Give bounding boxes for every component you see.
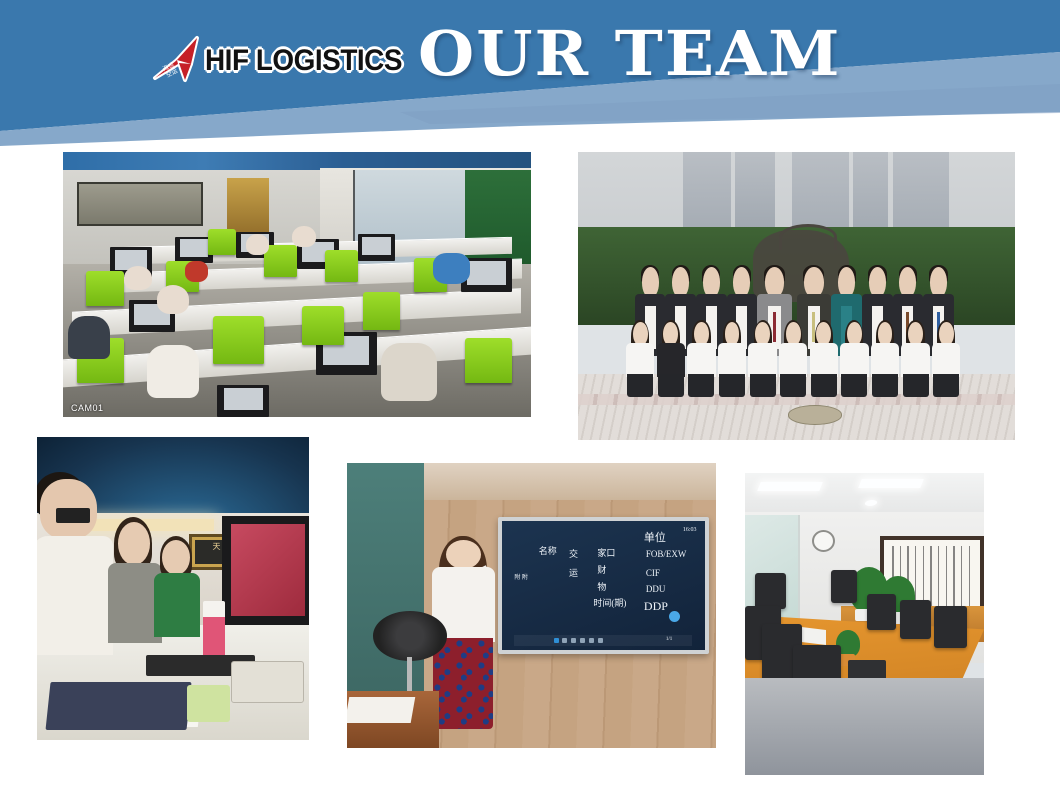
pavement-manhole bbox=[788, 405, 842, 424]
group-member-front-row bbox=[748, 322, 776, 397]
office-chair bbox=[208, 229, 236, 256]
office-employee bbox=[157, 285, 190, 314]
desk-telephone bbox=[231, 661, 304, 702]
conference-chair bbox=[900, 600, 931, 639]
office-chair bbox=[264, 245, 297, 277]
group-member-front-row bbox=[871, 322, 899, 397]
whiteboard-heading: 单位 bbox=[644, 533, 666, 544]
office-employee bbox=[124, 266, 152, 290]
office-chair bbox=[86, 271, 123, 305]
office-chair bbox=[465, 338, 512, 383]
brand-name: HIF LOGISTICS bbox=[205, 30, 402, 92]
whiteboard-note: 家口 bbox=[597, 548, 615, 559]
page-header: 海运 空运 HIF LOGISTICS OUR TEAM bbox=[0, 0, 1060, 152]
whiteboard-toolbar[interactable] bbox=[514, 635, 692, 647]
office-employee bbox=[147, 345, 198, 398]
photo-company-group[interactable] bbox=[578, 152, 1015, 440]
conference-chair bbox=[934, 606, 967, 648]
office-monitor bbox=[358, 234, 395, 261]
office-employee bbox=[246, 234, 269, 255]
photo-training-session[interactable]: 16:03 单位 FOB/EXW CIF DDU DDP 名称 交 家口 财 物… bbox=[347, 463, 716, 748]
office-chair bbox=[302, 306, 344, 346]
whiteboard-note: 物 bbox=[597, 582, 606, 593]
office-employee bbox=[292, 226, 315, 247]
desk-snack-bag bbox=[187, 685, 231, 721]
office-chair bbox=[363, 292, 400, 329]
whiteboard-note: 名称 bbox=[539, 546, 557, 557]
conference-chair bbox=[867, 594, 896, 630]
ceiling-light bbox=[858, 479, 924, 488]
camera-watermark: CAM01 bbox=[71, 403, 104, 413]
ceiling-light bbox=[758, 482, 824, 491]
whiteboard-term: DDU bbox=[646, 584, 666, 595]
desk-employee-foreground bbox=[37, 479, 113, 655]
training-wall-top bbox=[424, 463, 716, 500]
office-monitor bbox=[217, 385, 268, 417]
conference-floor bbox=[745, 678, 984, 775]
office-chair bbox=[213, 316, 264, 364]
company-logo[interactable]: 海运 空运 HIF LOGISTICS bbox=[147, 30, 417, 92]
office-wall-painting bbox=[77, 182, 203, 226]
office-employee bbox=[185, 261, 208, 282]
conference-chair bbox=[831, 570, 857, 603]
training-documents bbox=[347, 697, 416, 723]
office-employee bbox=[433, 253, 470, 285]
hif-arrow-logo-icon: 海运 空运 bbox=[147, 30, 209, 92]
whiteboard-term: CIF bbox=[646, 568, 660, 579]
group-member-front-row bbox=[626, 322, 654, 397]
group-member-front-row bbox=[657, 322, 685, 397]
group-member-front-row bbox=[901, 322, 929, 397]
group-member-front-row bbox=[718, 322, 746, 397]
whiteboard-term: FOB/EXW bbox=[646, 549, 687, 560]
desk-monitor bbox=[222, 516, 309, 625]
photo-open-plan-office[interactable]: CAM01 bbox=[63, 152, 531, 417]
whiteboard-note: 时间(期) bbox=[593, 598, 626, 609]
bull-statue-horn bbox=[779, 224, 837, 250]
whiteboard-clock: 16:03 bbox=[683, 525, 697, 536]
whiteboard-note: 财 bbox=[597, 565, 606, 576]
conference-chair bbox=[755, 573, 786, 609]
photo-staff-desks[interactable]: 天道酬勤 bbox=[37, 437, 309, 740]
interactive-whiteboard[interactable]: 16:03 单位 FOB/EXW CIF DDU DDP 名称 交 家口 财 物… bbox=[498, 517, 708, 654]
whiteboard-note: 运 bbox=[569, 568, 578, 579]
group-member-front-row bbox=[687, 322, 715, 397]
whiteboard-term: DDP bbox=[644, 601, 668, 612]
whiteboard-note: 附 附 bbox=[514, 573, 528, 584]
group-member-front-row bbox=[779, 322, 807, 397]
office-employee bbox=[68, 316, 110, 358]
group-member-front-row bbox=[810, 322, 838, 397]
desk-calendar bbox=[45, 682, 192, 730]
whiteboard-note: 交 bbox=[569, 549, 578, 560]
desk-employee-third bbox=[154, 540, 200, 637]
photo-conference-room[interactable] bbox=[745, 473, 984, 775]
office-employee bbox=[381, 343, 437, 401]
whiteboard-cursor-dot bbox=[669, 611, 680, 622]
office-chair bbox=[325, 250, 358, 282]
group-member-front-row bbox=[840, 322, 868, 397]
group-member-front-row bbox=[932, 322, 960, 397]
standing-fan bbox=[373, 611, 447, 699]
whiteboard-screen: 16:03 单位 FOB/EXW CIF DDU DDP 名称 交 家口 财 物… bbox=[502, 521, 704, 650]
page-title: OUR TEAM bbox=[418, 21, 842, 87]
